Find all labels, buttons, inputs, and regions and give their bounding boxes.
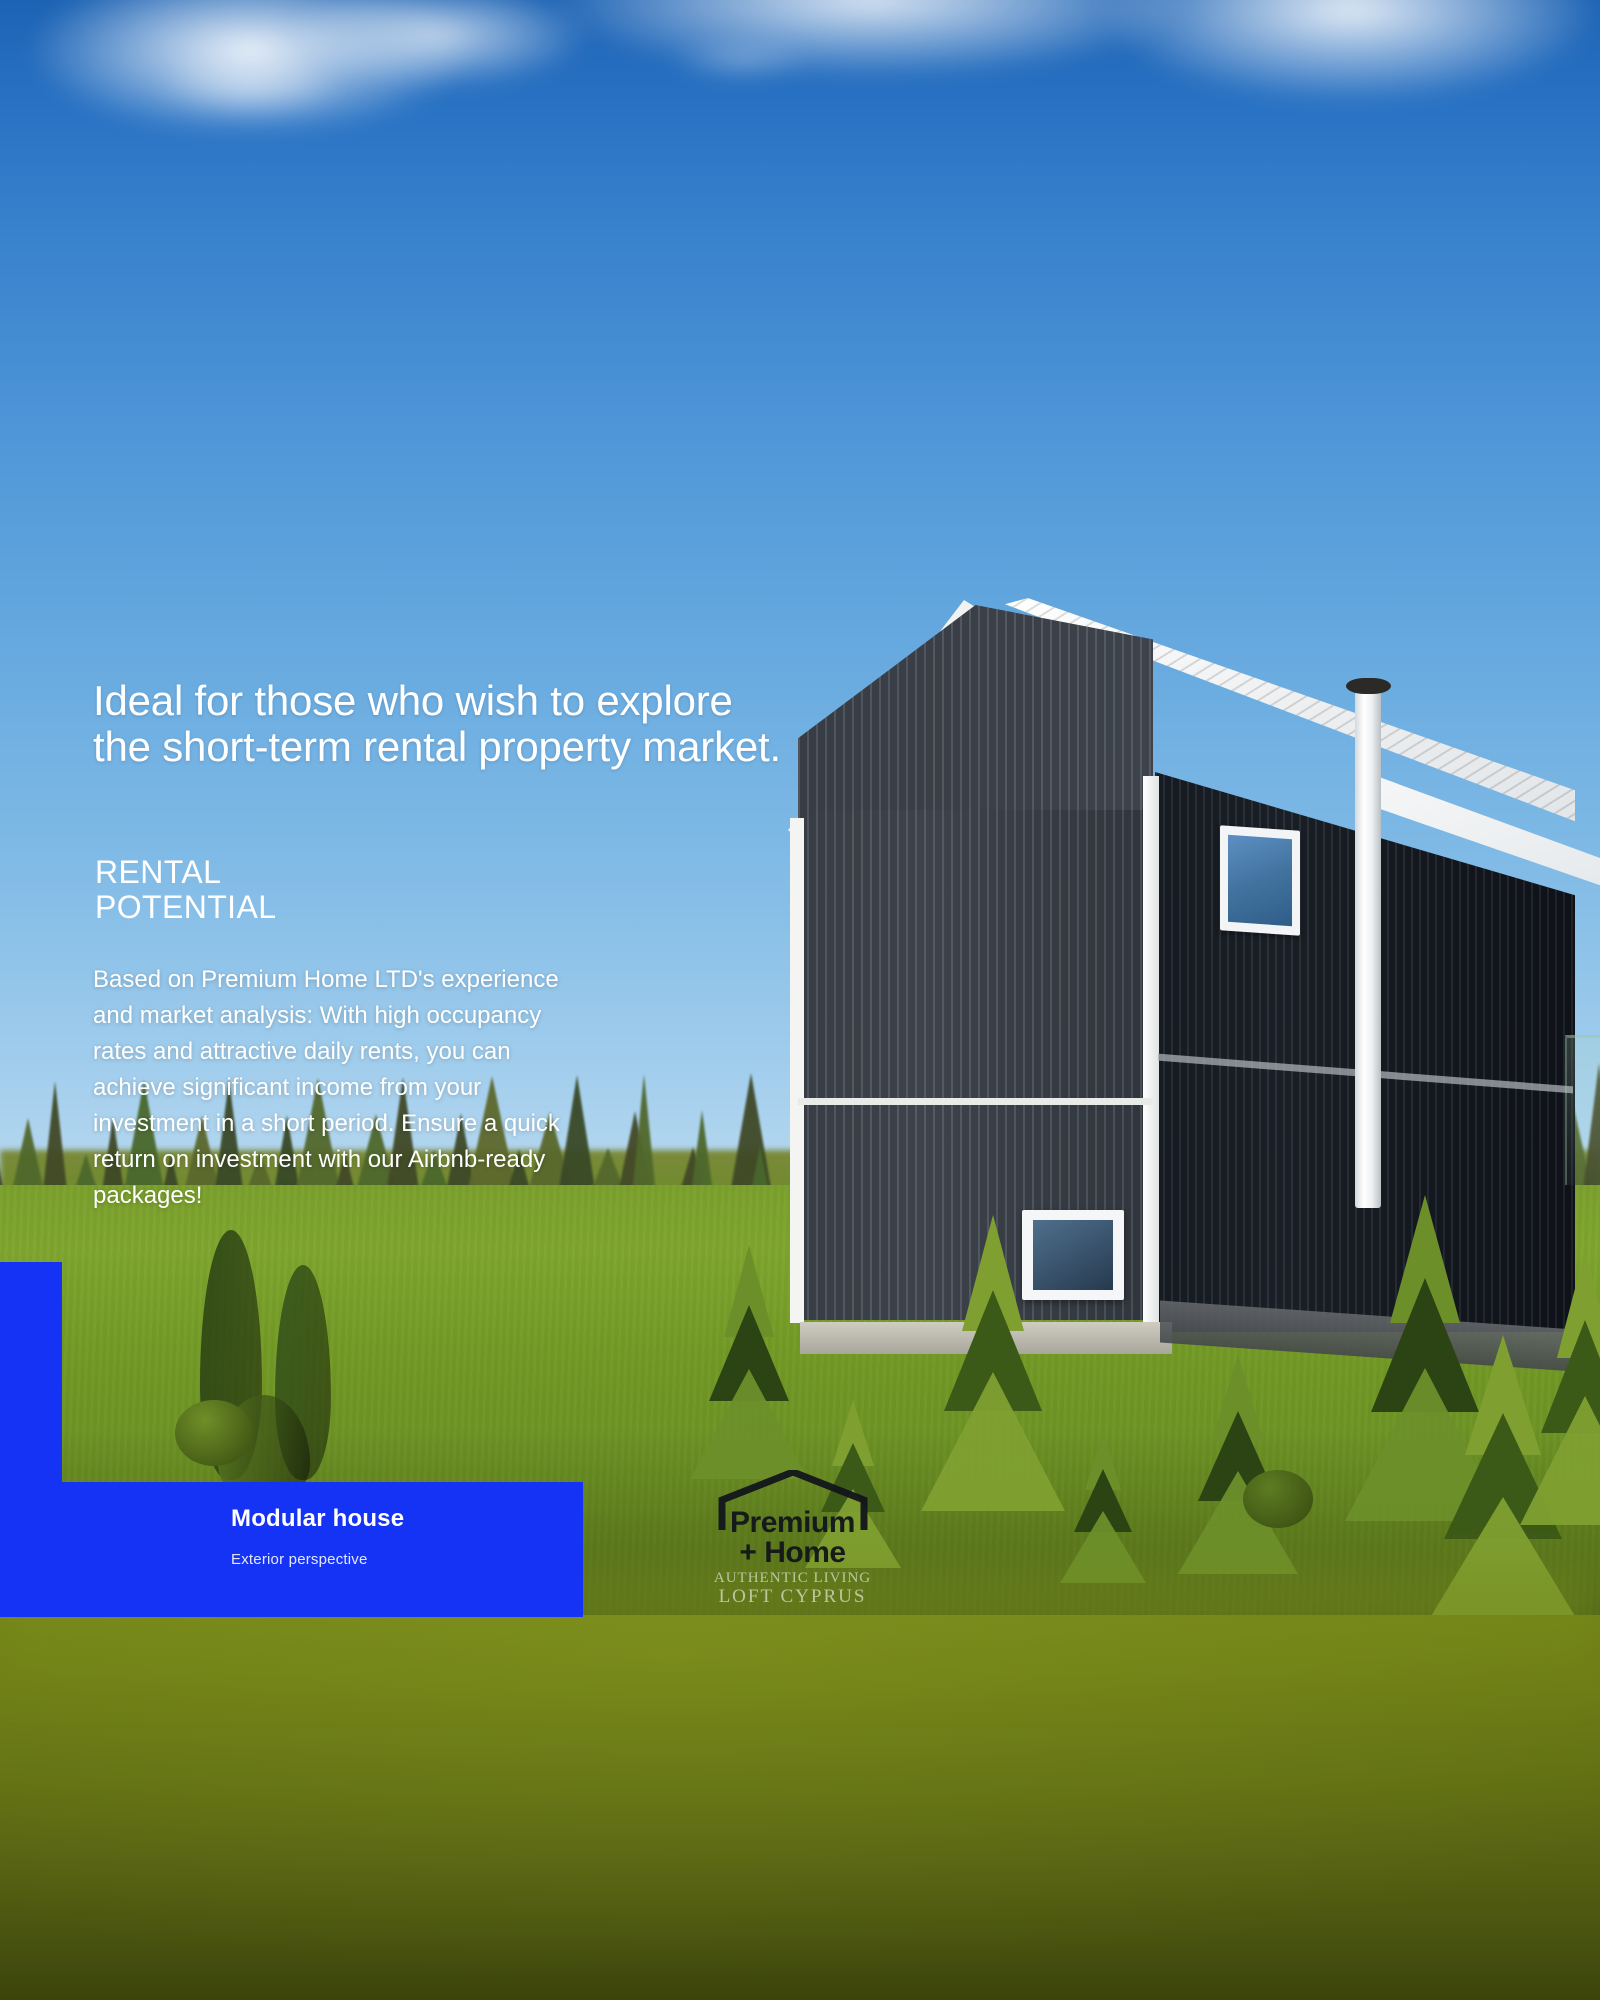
chimney-flue	[1355, 688, 1381, 1208]
cloud-shape	[120, 40, 380, 130]
upper-window	[1220, 825, 1300, 936]
premium-home-logo: Premium + Home AUTHENTIC LIVING LOFT CYP…	[700, 1470, 885, 1610]
logo-brand-top: Premium	[700, 1506, 885, 1540]
cloud-shape	[640, 30, 840, 90]
logo-brand-bottom: + Home	[700, 1536, 885, 1570]
foreground-spruce	[1520, 1250, 1600, 1520]
foreground-spruce	[920, 1215, 1065, 1505]
section-eyebrow-line2: POTENTIAL	[95, 890, 615, 925]
page-title: Ideal for those who wish to explore the …	[93, 678, 793, 770]
body-paragraph: Based on Premium Home LTD's experience a…	[93, 962, 593, 1214]
glass-railing	[1565, 1035, 1600, 1185]
gable-peak-wall	[798, 605, 1153, 820]
chimney-cap	[1346, 678, 1391, 694]
slide-canvas: Premium + Home AUTHENTIC LIVING LOFT CYP…	[0, 0, 1600, 2000]
foreground-shrub	[175, 1400, 253, 1466]
logo-tagline-line2: LOFT CYPRUS	[700, 1586, 885, 1608]
caption-panel	[0, 1482, 583, 1617]
corner-trim	[1143, 776, 1159, 1336]
foreground-shrub	[1243, 1470, 1313, 1528]
modular-house	[760, 580, 1600, 1300]
section-eyebrow-line1: RENTAL	[95, 855, 615, 890]
logo-tagline-line1: AUTHENTIC LIVING	[700, 1570, 885, 1587]
foreground-spruce	[1178, 1355, 1298, 1570]
foreground-spruce	[1060, 1430, 1146, 1580]
belt-line-trim	[798, 1098, 1153, 1105]
background-photo	[0, 0, 1600, 1640]
bottom-band-vignette	[0, 1615, 1600, 2000]
caption-title: Modular house	[231, 1505, 404, 1533]
foreground-spruce	[690, 1245, 808, 1475]
section-eyebrow: RENTAL POTENTIAL	[95, 855, 615, 925]
caption-subtitle: Exterior perspective	[231, 1551, 368, 1568]
